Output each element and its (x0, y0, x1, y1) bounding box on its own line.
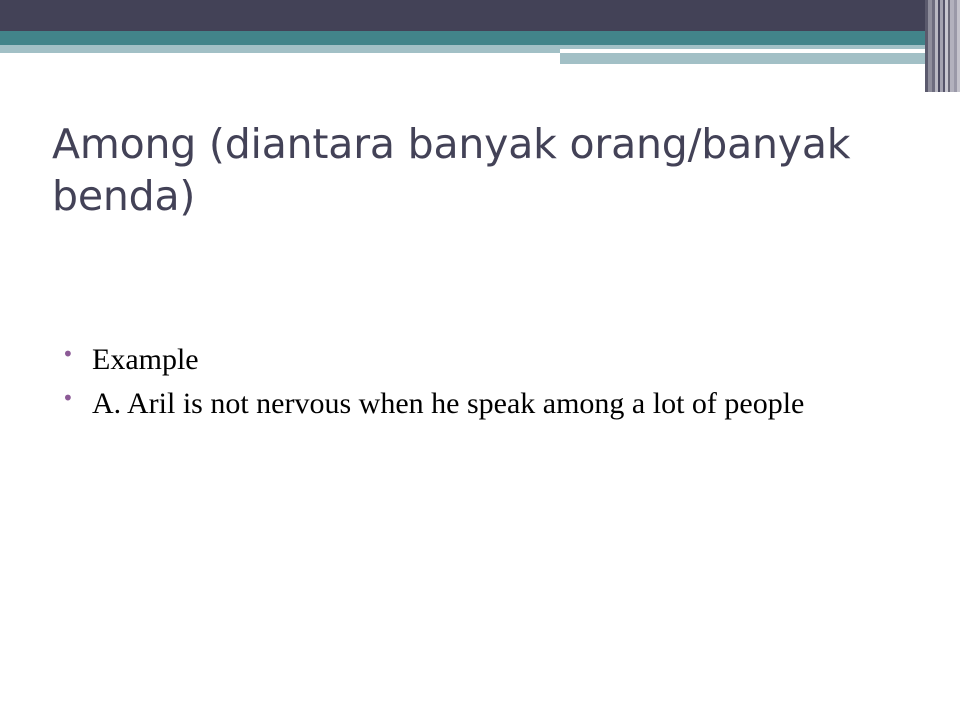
presentation-slide: Among (diantara banyak orang/banyak bend… (0, 0, 960, 720)
white-rule-accent (780, 51, 890, 53)
list-item-label: Example (92, 338, 912, 382)
dark-navy-band (0, 0, 960, 31)
pale-band-right (560, 64, 925, 71)
slide-title: Among (diantara banyak orang/banyak bend… (52, 118, 922, 222)
vertical-stripe-group (925, 0, 960, 92)
list-item: • A. Aril is not nervous when he speak a… (62, 382, 912, 426)
light-blue-band-right (560, 53, 925, 64)
bullet-icon: • (62, 338, 92, 369)
bullet-icon: • (62, 382, 92, 413)
list-item: • Example (62, 338, 912, 382)
slide-body-list: • Example • A. Aril is not nervous when … (62, 338, 912, 426)
list-item-label: A. Aril is not nervous when he speak amo… (92, 382, 912, 426)
header-decoration (0, 0, 960, 92)
